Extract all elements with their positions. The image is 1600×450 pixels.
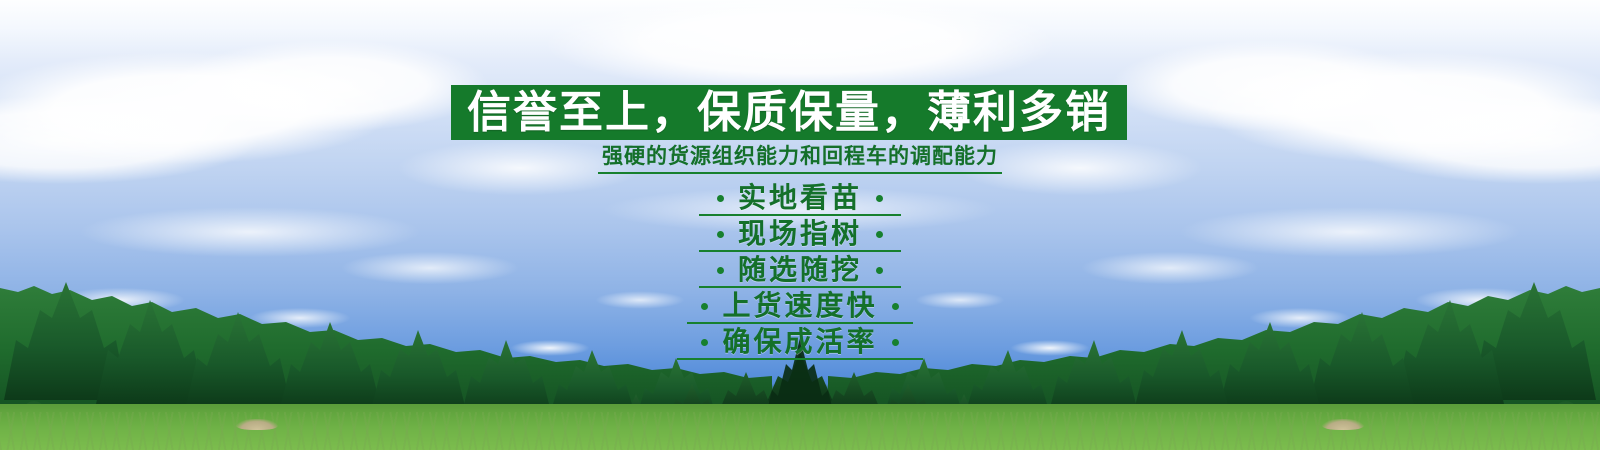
banner-content: 信誉至上，保质保量，薄利多销 强硬的货源组织能力和回程车的调配能力 实地看苗 现… [0,0,1600,450]
subtitle: 强硬的货源组织能力和回程车的调配能力 [0,145,1600,174]
headline-bar: 信誉至上，保质保量，薄利多销 [451,85,1127,140]
feature-label: 现场指树 [738,220,862,248]
hero-banner: 信誉至上，保质保量，薄利多销 强硬的货源组织能力和回程车的调配能力 实地看苗 现… [0,0,1600,450]
feature-item-5: 确保成活率 [0,324,1600,360]
feature-label: 上货速度快 [722,292,877,320]
headline-text: 信誉至上，保质保量，薄利多销 [467,91,1111,135]
bullet-dot-icon [892,339,899,346]
bullet-dot-icon [876,195,883,202]
bullet-dot-icon [876,231,883,238]
feature-label: 随选随挖 [738,256,862,284]
bullet-dot-icon [701,339,708,346]
feature-label: 实地看苗 [738,184,862,212]
bullet-dot-icon [717,267,724,274]
bullet-dot-icon [717,231,724,238]
bullet-dot-icon [892,303,899,310]
bullet-dot-icon [876,267,883,274]
feature-item-2: 现场指树 [0,216,1600,252]
feature-label: 确保成活率 [722,328,877,356]
feature-item-3: 随选随挖 [0,252,1600,288]
feature-list: 实地看苗 现场指树 随选随挖 上货速度快 确保成活率 [0,180,1600,360]
feature-item-4: 上货速度快 [0,288,1600,324]
subtitle-text: 强硬的货源组织能力和回程车的调配能力 [598,145,1002,174]
bullet-dot-icon [717,195,724,202]
bullet-dot-icon [701,303,708,310]
feature-item-1: 实地看苗 [0,180,1600,216]
